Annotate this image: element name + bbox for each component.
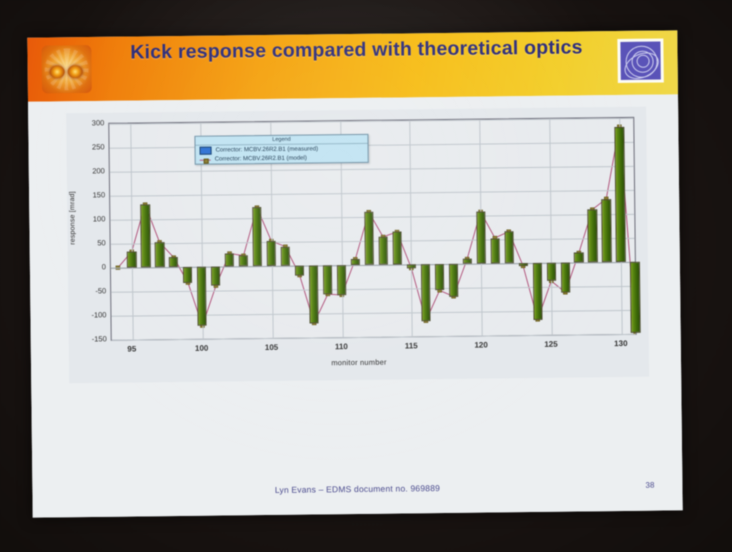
chart-bar — [169, 257, 178, 267]
cern-logo-icon — [617, 38, 663, 83]
x-tick-label: 130 — [614, 339, 627, 348]
x-tick-label: 110 — [335, 342, 348, 351]
chart-bar — [197, 267, 207, 326]
chart-bar — [421, 264, 431, 321]
chart-bar — [560, 263, 570, 293]
presentation-slide: Kick response compared with theoretical … — [27, 30, 682, 517]
chart-bar — [532, 263, 542, 320]
chart-bar — [615, 127, 626, 262]
photographed-slide-scene: Kick response compared with theoretical … — [0, 0, 732, 552]
logo-eye-left — [50, 65, 65, 78]
slide-footer: Lyn Evans – EDMS document no. 969889 38 — [32, 480, 682, 501]
chart-bar — [630, 262, 640, 333]
page-title: Kick response compared with theoretical … — [105, 35, 607, 66]
legend-bar-swatch-icon — [200, 147, 212, 155]
chart-bar — [490, 238, 500, 264]
chart-bar — [546, 263, 555, 281]
chart-bar — [407, 264, 416, 268]
cern-logo-inner — [620, 42, 660, 80]
x-tick-label: 95 — [127, 344, 136, 353]
chart-bar — [295, 266, 304, 276]
y-tick-label: 0 — [102, 262, 106, 271]
y-axis-tick-labels: 300250200150100500-50-100-150 — [80, 123, 108, 341]
x-tick-label: 105 — [265, 343, 278, 352]
chart-bar — [239, 256, 248, 267]
chart-bar — [463, 259, 472, 264]
y-tick-label: 300 — [92, 118, 105, 127]
chart-bar — [183, 267, 192, 283]
chart-bar — [602, 199, 612, 262]
chart-bar — [435, 264, 445, 290]
x-tick-label: 125 — [544, 340, 557, 349]
chart-bar — [337, 265, 347, 295]
chart-bar — [574, 253, 583, 263]
chart-bar — [225, 253, 234, 266]
chart-bar — [155, 242, 165, 267]
chart-bar — [127, 252, 136, 268]
chart-bar — [141, 204, 151, 267]
kick-response-chart: response [mrad] 300250200150100500-50-10… — [66, 107, 649, 384]
y-tick-label: 50 — [97, 238, 105, 247]
x-tick-label: 100 — [195, 344, 208, 353]
sun-flower-logo-icon — [41, 45, 92, 94]
chart-bar — [252, 207, 262, 266]
chart-bar — [281, 247, 290, 266]
x-tick-label: 115 — [405, 341, 418, 350]
chart-bar — [588, 209, 598, 262]
legend-label-model: Corrector: MCBV.26R2.B1 (model) — [215, 156, 307, 163]
slide-body: response [mrad] 300250200150100500-50-10… — [28, 94, 683, 517]
chart-bar — [504, 232, 514, 264]
slide-banner: Kick response compared with theoretical … — [27, 30, 678, 101]
legend-label-measured: Corrector: MCBV.26R2.B1 (measured) — [216, 146, 319, 153]
chart-bar — [378, 237, 388, 265]
y-tick-label: -50 — [95, 286, 106, 295]
y-tick-label: 100 — [93, 214, 106, 223]
y-tick-label: 200 — [92, 166, 105, 175]
y-tick-label: -150 — [92, 334, 107, 343]
legend-entry-model: Corrector: MCBV.26R2.B1 (model) — [196, 154, 368, 164]
chart-bar — [476, 212, 486, 264]
chart-bar — [392, 232, 402, 265]
x-tick-label: 120 — [474, 340, 487, 349]
chart-bar — [351, 259, 360, 265]
logo-eye-right — [68, 65, 83, 78]
chart-bar — [309, 265, 319, 323]
chart-bar — [449, 264, 459, 297]
footer-attribution: Lyn Evans – EDMS document no. 969889 — [32, 480, 682, 497]
y-tick-label: -100 — [91, 310, 106, 319]
chart-bar — [211, 267, 220, 286]
chart-bar — [267, 241, 277, 266]
page-number: 38 — [645, 481, 654, 490]
y-tick-label: 250 — [92, 142, 105, 151]
plot-area — [108, 117, 636, 341]
chart-bar — [364, 212, 374, 265]
chart-bar — [518, 263, 527, 266]
legend-line-swatch-icon — [200, 157, 211, 163]
y-tick-label: 150 — [93, 190, 106, 199]
chart-legend: Legend Corrector: MCBV.26R2.B1 (measured… — [194, 134, 368, 165]
chart-bar — [323, 265, 333, 294]
